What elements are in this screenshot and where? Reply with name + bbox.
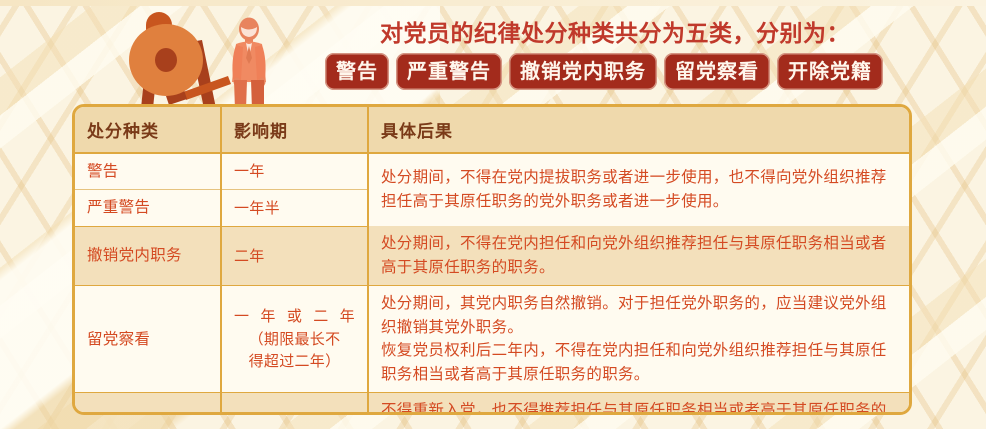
- compass-divider-illustration: [129, 12, 231, 118]
- table-row: 开除党籍 受到处分后五年 不得重新入党，也不得推荐担任与其原任职务相当或者高于其…: [75, 393, 909, 415]
- page-title: 对党员的纪律处分种类共分为五类，分别为：: [380, 14, 980, 48]
- badge-warning: 警告: [325, 53, 389, 90]
- cell-consequence-remove-post: 处分期间，不得在党内担任和向党外组织推荐担任与其原任职务相当或者高于其原任职务的…: [368, 226, 909, 286]
- badge-remove-party-post: 撤销党内职务: [509, 53, 657, 90]
- period-line-1: 一年或二年: [234, 305, 355, 328]
- consequence-paragraph-2: 恢复党员权利后二年内，不得在党内担任和向党外组织推荐担任与其原任职务相当或者高于…: [381, 339, 897, 386]
- cell-category-probation: 留党察看: [75, 286, 221, 393]
- badge-serious-warning: 严重警告: [396, 53, 502, 90]
- badge-probation: 留党察看: [664, 53, 770, 90]
- consequence-paragraph-1: 处分期间，其党内职务自然撤销。对于担任党外职务的，应当建议党外组织撤销其党外职务…: [381, 292, 897, 339]
- period-line-3: 得超过二年）: [234, 350, 355, 373]
- column-header-consequence: 具体后果: [368, 107, 909, 153]
- infographic-poster: 对党员的纪律处分种类共分为五类，分别为： 警告 严重警告 撤销党内职务 留党察看…: [0, 0, 986, 429]
- table-row: 警告 一年 处分期间，不得在党内提拔职务或者进一步使用，也不得向党外组织推荐担任…: [75, 153, 909, 190]
- table-row: 撤销党内职务 二年 处分期间，不得在党内担任和向党外组织推荐担任与其原任职务相当…: [75, 226, 909, 286]
- cell-category-remove-post: 撤销党内职务: [75, 226, 221, 286]
- punishment-type-badges: 警告 严重警告 撤销党内职务 留党察看 开除党籍: [325, 53, 883, 90]
- businessman-illustration: [232, 18, 266, 111]
- cell-consequence-probation: 处分期间，其党内职务自然撤销。对于担任党外职务的，应当建议党外组织撤销其党外职务…: [368, 286, 909, 393]
- cell-category-serious-warning: 严重警告: [75, 190, 221, 226]
- cell-category-warning: 警告: [75, 153, 221, 190]
- column-header-period: 影响期: [221, 107, 368, 153]
- column-header-category: 处分种类: [75, 107, 221, 153]
- cell-period-warning: 一年: [221, 153, 368, 190]
- cell-period-expulsion: 受到处分后五年: [221, 393, 368, 415]
- cell-category-expulsion: 开除党籍: [75, 393, 221, 415]
- table-header-row: 处分种类 影响期 具体后果: [75, 107, 909, 153]
- badge-expulsion: 开除党籍: [777, 53, 883, 90]
- punishment-table: 处分种类 影响期 具体后果 警告 一年 处分期间，不得在党内提拔职务或者进一步使…: [72, 104, 912, 415]
- cell-period-remove-post: 二年: [221, 226, 368, 286]
- period-line-2: （期限最长不: [234, 328, 355, 351]
- cell-period-serious-warning: 一年半: [221, 190, 368, 226]
- cell-consequence-expulsion: 不得重新入党，也不得推荐担任与其原任职务相当或者高于其原任职务的党外职务。: [368, 393, 909, 415]
- table-row: 留党察看 一年或二年 （期限最长不 得超过二年） 处分期间，其党内职务自然撤销。…: [75, 286, 909, 393]
- cell-period-probation: 一年或二年 （期限最长不 得超过二年）: [221, 286, 368, 393]
- cell-consequence-warning: 处分期间，不得在党内提拔职务或者进一步使用，也不得向党外组织推荐担任高于其原任职…: [368, 153, 909, 226]
